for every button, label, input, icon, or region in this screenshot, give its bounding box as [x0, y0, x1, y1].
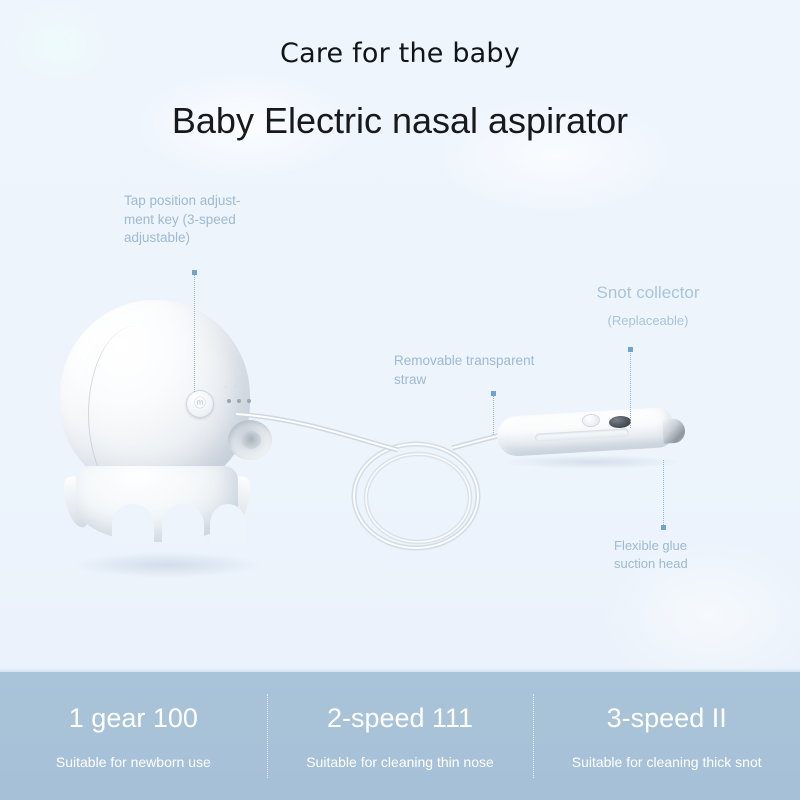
callout-tip-line1: Flexible glue [614, 537, 754, 555]
callout-tip-line2: suction head [614, 555, 754, 573]
feature-column-3: 3-speed II Suitable for cleaning thick s… [533, 672, 800, 800]
leader-line-snot-collector [630, 349, 631, 428]
kicker-heading: Care for the baby [0, 38, 800, 69]
callout-collector-title: Snot collector [597, 283, 700, 302]
unit-tentacle-base [64, 466, 250, 558]
callout-removable-straw: Removable transparent straw [394, 352, 574, 389]
handpiece-illustration [497, 407, 697, 469]
feature-title: 3-speed II [607, 703, 727, 734]
power-icon: ⓜ [194, 397, 206, 409]
leader-marker-suction-head [661, 525, 666, 530]
leader-marker-snot-collector [628, 347, 633, 352]
page-title: Baby Electric nasal aspirator [0, 100, 800, 142]
leader-line-power-button [194, 272, 195, 392]
feature-subtitle: Suitable for cleaning thin nose [306, 754, 494, 770]
indicator-mark: ' [225, 386, 227, 393]
product-infographic: Care for the baby Baby Electric nasal as… [0, 0, 800, 800]
leader-marker-power-button [192, 270, 197, 275]
indicator-mark: ' [245, 386, 247, 393]
callout-power-button: Tap position adjust- ment key (3-speed a… [124, 192, 269, 248]
callout-snot-collector: Snot collector (Replaceable) [568, 281, 728, 330]
feature-column-2: 2-speed 111 Suitable for cleaning thin n… [267, 672, 534, 800]
leader-line-straw [493, 393, 494, 435]
leader-line-suction-head [663, 460, 664, 527]
callout-suction-head: Flexible glue suction head [614, 537, 754, 573]
feature-subtitle: Suitable for cleaning thick snot [572, 754, 762, 770]
unit-body: ⓜ ' ' ' [60, 300, 250, 492]
callout-straw-line1: Removable transparent [394, 352, 574, 371]
feature-subtitle: Suitable for newborn use [56, 754, 211, 770]
callout-collector-sub: (Replaceable) [568, 312, 728, 330]
indicator-mark: ' [235, 386, 237, 393]
feature-column-1: 1 gear 100 Suitable for newborn use [0, 672, 267, 800]
callout-power-line1: Tap position adjust- [124, 192, 269, 211]
callout-power-line2: ment key (3-speed [124, 211, 269, 230]
handpiece-shadow [505, 455, 680, 469]
silicone-suction-tip [662, 418, 685, 443]
tentacle-skirt [76, 466, 238, 542]
feature-title: 1 gear 100 [69, 703, 198, 734]
tentacle-notch [112, 504, 154, 544]
tentacle-notch [162, 504, 204, 544]
feature-band: 1 gear 100 Suitable for newborn use 2-sp… [0, 672, 800, 800]
feature-title: 2-speed 111 [327, 703, 473, 734]
callout-power-line3: adjustable) [124, 229, 269, 248]
callout-straw-line2: straw [394, 371, 574, 390]
leader-marker-straw [491, 391, 496, 396]
power-button[interactable]: ⓜ [186, 390, 214, 418]
